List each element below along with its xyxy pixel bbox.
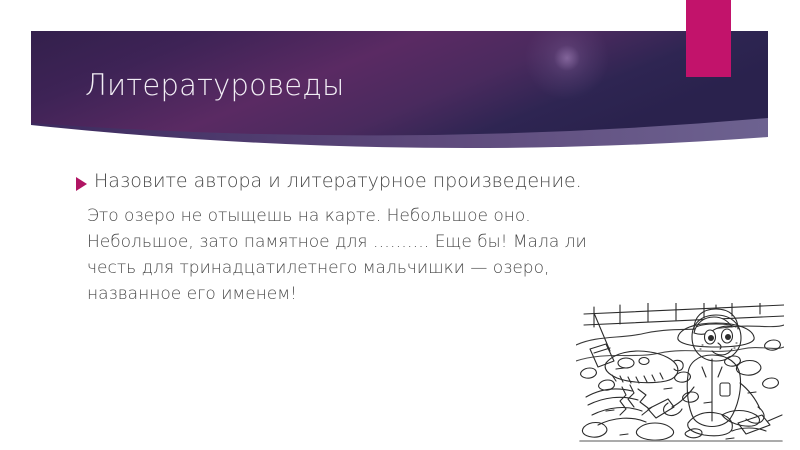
body-paragraph: Это озеро не отыщешь на карте. Небольшое… [87,203,587,307]
triangle-right-bullet-icon [76,177,87,191]
slide-body: Назовите автора и литературное произведе… [76,168,636,307]
bullet-item-label: Назовите автора и литературное произведе… [94,168,582,194]
presentation-slide: Литературоведы Назовите автора и литерат… [0,0,800,450]
archaeologist-boy-digging-dinosaur-bones-illustration [576,303,784,443]
bullet-list-item: Назовите автора и литературное произведе… [76,168,636,194]
page-title: Литературоведы [85,68,645,102]
accent-bar [686,0,731,77]
